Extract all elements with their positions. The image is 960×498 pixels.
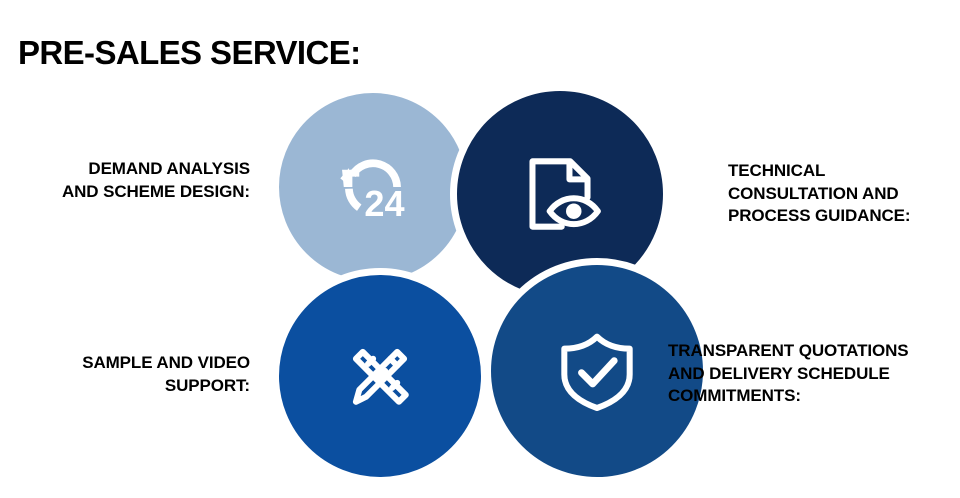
label-line: SAMPLE AND VIDEO: [10, 352, 250, 375]
label-line: TRANSPARENT QUOTATIONS: [668, 340, 960, 363]
label-transparent-quotations: TRANSPARENT QUOTATIONS AND DELIVERY SCHE…: [668, 340, 960, 408]
pen-and-ruler-icon: [337, 333, 423, 419]
label-technical-consultation: TECHNICAL CONSULTATION AND PROCESS GUIDA…: [728, 160, 956, 228]
label-line: DEMAND ANALYSIS: [10, 158, 250, 181]
label-demand-analysis: DEMAND ANALYSIS AND SCHEME DESIGN:: [10, 158, 250, 203]
label-line: TECHNICAL: [728, 160, 956, 183]
label-sample-video-support: SAMPLE AND VIDEO SUPPORT:: [10, 352, 250, 397]
shield-check-icon: [554, 328, 640, 414]
circle-demand-analysis[interactable]: 24: [272, 86, 474, 288]
icon-24-text: 24: [364, 183, 404, 224]
clock-24-hour-rotate-icon: 24: [330, 144, 416, 230]
circle-sample-video-support[interactable]: [272, 268, 488, 484]
label-line: AND SCHEME DESIGN:: [10, 181, 250, 204]
label-line: CONSULTATION AND: [728, 183, 956, 206]
label-line: AND DELIVERY SCHEDULE: [668, 363, 960, 386]
label-line: SUPPORT:: [10, 375, 250, 398]
document-eye-review-icon: [517, 151, 603, 237]
label-line: PROCESS GUIDANCE:: [728, 205, 956, 228]
four-circle-diagram: 24: [0, 0, 960, 498]
label-line: COMMITMENTS:: [668, 385, 960, 408]
